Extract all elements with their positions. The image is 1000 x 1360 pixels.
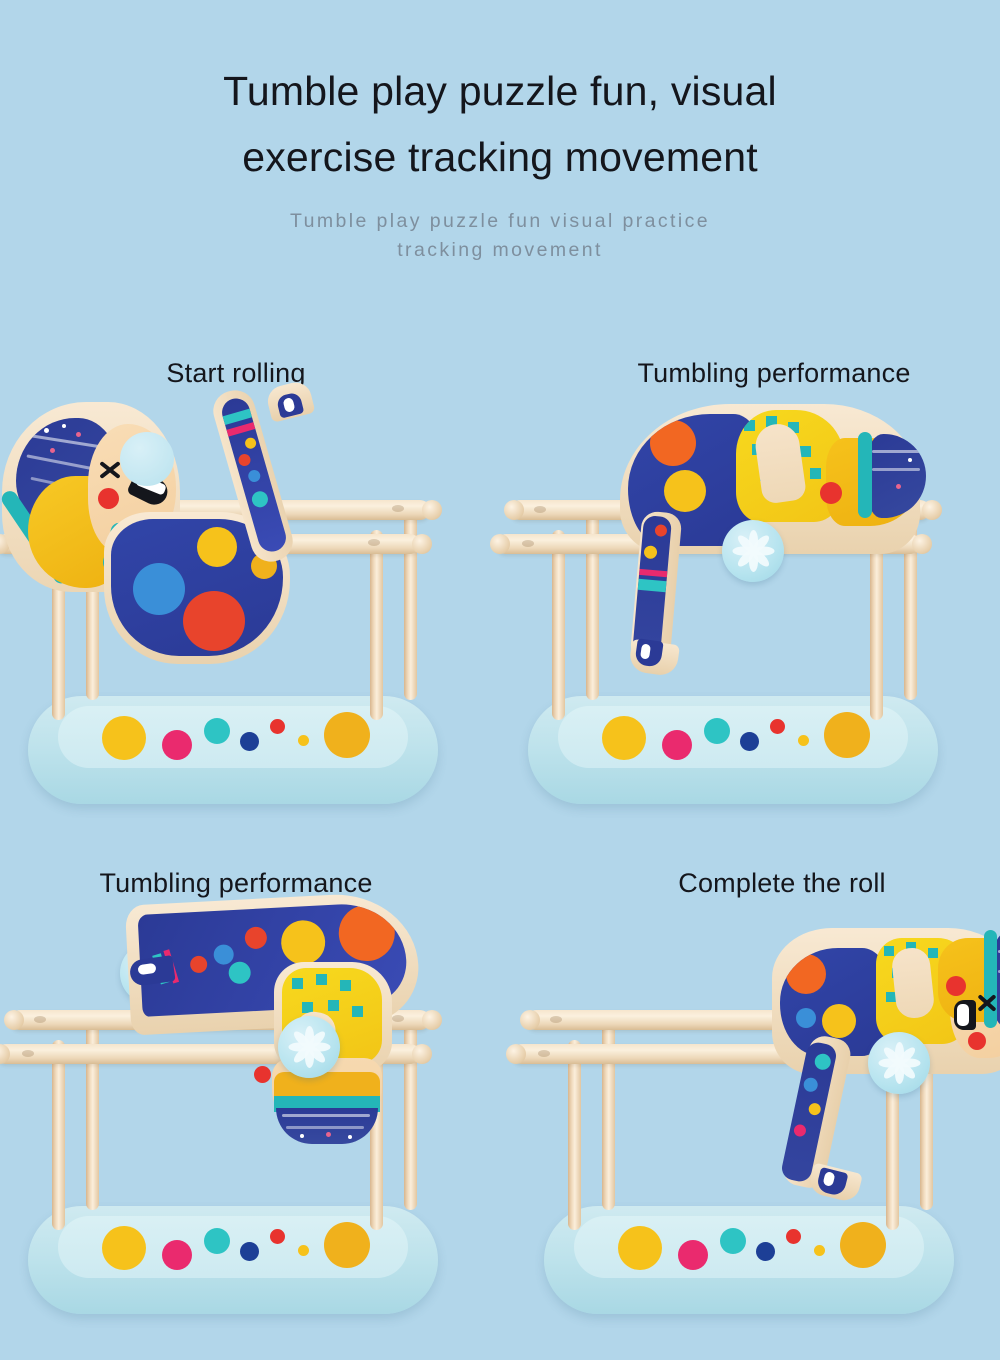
toy-part	[50, 448, 55, 453]
headline-line-2: exercise tracking movement	[0, 124, 1000, 190]
flower-center	[895, 1059, 904, 1068]
base-dot	[662, 730, 692, 760]
base-dot	[678, 1240, 708, 1270]
rail-end-cap-2	[504, 500, 524, 520]
toy-assembly-3	[0, 906, 500, 1356]
subtitle-line-1: Tumble play puzzle fun visual practice	[290, 210, 710, 232]
base-dot	[204, 718, 230, 744]
panel-label-tumbling-1: Tumbling performance	[524, 358, 1000, 389]
base-dot	[102, 716, 146, 760]
rail-end-cap-4	[520, 1010, 540, 1030]
frame-post-right-front-1	[370, 530, 383, 720]
frame-post-left-front-4	[568, 1040, 581, 1230]
panel-tumbling-performance-1: Tumbling performance	[500, 340, 1000, 850]
base-dot	[740, 732, 759, 751]
rail-end-cap-1	[412, 534, 432, 554]
flower-center	[749, 547, 758, 556]
headline-line-1: Tumble play puzzle fun, visual	[223, 68, 777, 114]
figure-mouth	[954, 1000, 976, 1030]
subtitle-line-2: tracking movement	[0, 236, 1000, 266]
flower-disc-4	[868, 1032, 930, 1094]
toy-part	[348, 1135, 352, 1139]
toy-part	[244, 926, 267, 949]
base-dot	[162, 730, 192, 760]
frame-post-left-front-2	[552, 530, 565, 720]
toy-assembly-4	[500, 906, 1000, 1356]
toy-part	[183, 591, 245, 651]
frame-post-left-front-3	[52, 1040, 65, 1230]
toy-assembly-1	[0, 396, 500, 846]
base-dot	[324, 712, 370, 758]
figure-eye-x-icon	[976, 992, 998, 1014]
toy-part	[822, 1004, 856, 1038]
toy-part	[62, 424, 66, 428]
base-dot	[770, 719, 785, 734]
base-dot	[204, 1228, 230, 1254]
wood-knot-icon	[392, 505, 404, 512]
rail-end-cap-3	[412, 1044, 432, 1064]
wood-knot-icon	[538, 1050, 550, 1057]
base-dot	[720, 1228, 746, 1254]
figure-arm-knob-1	[120, 432, 174, 486]
base-inset-3	[58, 1216, 408, 1278]
base-dot	[618, 1226, 662, 1270]
base-dot	[756, 1242, 775, 1261]
figure-cheek	[98, 488, 119, 509]
wood-knot-icon	[34, 1016, 46, 1023]
base-inset-1	[58, 706, 408, 768]
flower-disc-2	[722, 520, 784, 582]
toy-part	[228, 961, 251, 984]
step-grid: Start rolling	[0, 340, 1000, 1360]
toy-part	[326, 1132, 331, 1137]
toy-part	[654, 524, 667, 537]
figure-cheek	[946, 976, 966, 996]
figure-cheek	[968, 1032, 986, 1050]
toy-part	[786, 954, 826, 994]
toy-part	[796, 1008, 816, 1028]
panel-label-tumbling-2: Tumbling performance	[0, 868, 486, 899]
toy-part	[44, 428, 49, 433]
base-dot	[298, 1245, 309, 1256]
toy-part	[650, 420, 696, 466]
base-dot	[798, 735, 809, 746]
base-dot	[704, 718, 730, 744]
subtitle: Tumble play puzzle fun visual practice t…	[0, 207, 1000, 266]
figure-cheek	[820, 482, 842, 504]
wood-knot-icon	[22, 1050, 34, 1057]
toy-part	[908, 458, 912, 462]
panel-complete-the-roll: Complete the roll	[500, 850, 1000, 1360]
rail-end-cap-3	[422, 1010, 442, 1030]
base-dot	[240, 1242, 259, 1261]
base-dot	[602, 716, 646, 760]
toy-part	[76, 432, 81, 437]
toy-part	[813, 1052, 832, 1071]
wood-knot-icon	[550, 1016, 562, 1023]
panel-label-start-rolling: Start rolling	[0, 358, 486, 389]
rail-end-cap-1	[422, 500, 442, 520]
base-dot	[824, 712, 870, 758]
panel-label-complete-roll: Complete the roll	[532, 868, 1000, 899]
rail-end-cap-2	[490, 534, 510, 554]
toy-part	[808, 1102, 822, 1116]
wood-knot-icon	[522, 540, 534, 547]
toy-assembly-2	[500, 396, 1000, 846]
figure-eye-x-icon	[98, 458, 122, 482]
toy-part	[213, 944, 234, 965]
panel-start-rolling: Start rolling	[0, 340, 500, 850]
base-dot	[324, 1222, 370, 1268]
toy-part	[664, 470, 706, 512]
headline: Tumble play puzzle fun, visual exercise …	[0, 58, 1000, 191]
figure-leg-hanging-2	[628, 512, 700, 678]
base-dot	[270, 719, 285, 734]
wood-knot-icon	[534, 506, 546, 513]
figure-cheek	[254, 1066, 271, 1083]
base-dot	[840, 1222, 886, 1268]
toy-part	[133, 563, 185, 615]
toy-part	[244, 436, 258, 450]
toy-part	[643, 545, 657, 559]
wood-knot-icon	[368, 539, 380, 546]
figure-leg-raised-1	[182, 388, 316, 574]
base-dot	[240, 732, 259, 751]
toy-part	[793, 1123, 807, 1137]
base-inset-4	[574, 1216, 924, 1278]
rail-end-cap-2	[922, 500, 942, 520]
rail-end-cap-4	[506, 1044, 526, 1064]
toy-part	[237, 453, 252, 468]
base-dot	[298, 735, 309, 746]
base-dot	[270, 1229, 285, 1244]
toy-part	[300, 1134, 304, 1138]
toy-part	[247, 469, 262, 484]
base-dot	[814, 1245, 825, 1256]
page-header: Tumble play puzzle fun, visual exercise …	[0, 0, 1000, 266]
toy-part	[802, 1076, 819, 1093]
base-dot	[786, 1229, 801, 1244]
panel-tumbling-performance-2: Tumbling performance	[0, 850, 500, 1360]
rail-end-cap-3	[4, 1010, 24, 1030]
flower-disc-3	[278, 1016, 340, 1078]
base-dot	[162, 1240, 192, 1270]
flower-center	[305, 1043, 314, 1052]
frame-post-right-front-2	[870, 530, 883, 720]
base-dot	[102, 1226, 146, 1270]
toy-part	[190, 955, 208, 973]
figure-leg-trailing-4	[786, 1036, 876, 1206]
base-inset-2	[558, 706, 908, 768]
toy-part	[896, 484, 901, 489]
toy-part	[250, 489, 270, 509]
toy-part	[280, 919, 326, 965]
